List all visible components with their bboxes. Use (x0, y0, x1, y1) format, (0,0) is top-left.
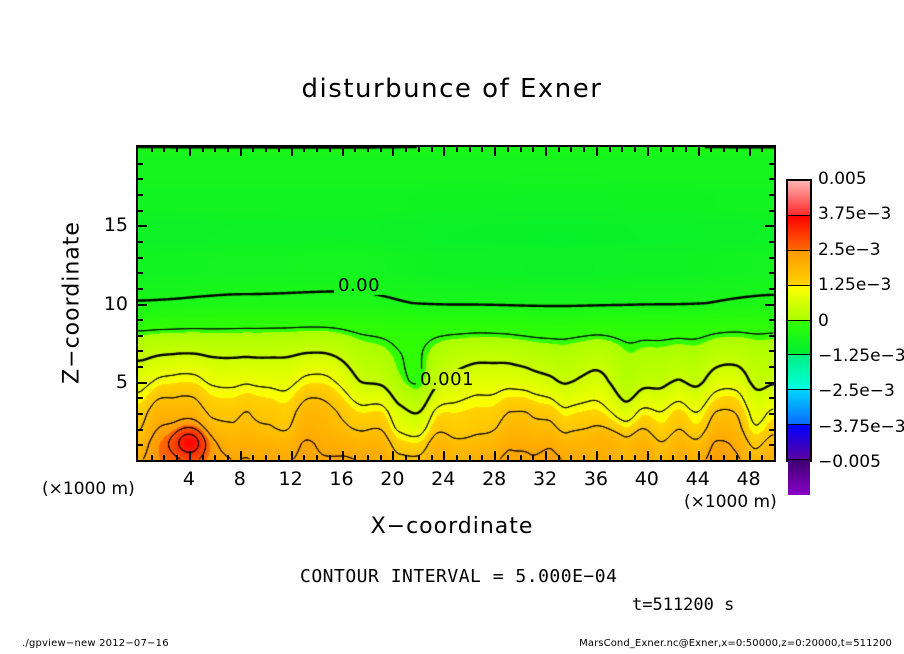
y-tick-left (138, 210, 143, 212)
x-tick-bottom (481, 455, 483, 460)
y-tick-left (138, 397, 143, 399)
y-tick-left (138, 194, 143, 196)
x-tick-top (380, 147, 382, 152)
colorbar[interactable] (786, 179, 812, 462)
y-tick-right (769, 210, 774, 212)
x-tick-bottom (252, 455, 254, 460)
x-tick-bottom (545, 451, 547, 460)
colorbar-band-pink-red (788, 181, 810, 216)
x-tick-bottom (176, 455, 178, 460)
y-tick-left (138, 257, 143, 259)
contour-value-label: 0.00 (338, 275, 380, 296)
y-tick-right (769, 413, 774, 415)
y-tick-left (138, 444, 143, 446)
y-tick-right (769, 272, 774, 274)
contour-value-label: 0.001 (420, 369, 474, 390)
colorbar-tick-label: 2.5e−3 (818, 240, 881, 260)
x-tick-bottom (570, 455, 572, 460)
x-tick-top (660, 147, 662, 152)
colorbar-tick-label: −3.75e−3 (818, 417, 904, 437)
x-tick-top (392, 147, 394, 156)
y-tick-left (138, 272, 143, 274)
x-tick-bottom (672, 455, 674, 460)
colorbar-band-red-orange (788, 216, 810, 251)
footer-datasource: MarsCond_Exner.nc@Exner,x=0:50000,z=0:20… (579, 638, 892, 649)
y-tick-right (769, 241, 774, 243)
colorbar-tick-label: 0.005 (818, 169, 867, 189)
y-tick-label: 15 (78, 214, 128, 236)
y-tick-right (769, 350, 774, 352)
x-tick-bottom (367, 455, 369, 460)
x-tick-bottom (189, 451, 191, 460)
x-tick-bottom (520, 455, 522, 460)
y-tick-right (769, 288, 774, 290)
x-tick-top (469, 147, 471, 152)
contour-interval-note: CONTOUR INTERVAL = 5.000E−04 (300, 566, 617, 587)
x-tick-bottom (316, 455, 318, 460)
colorbar-band-cyan-blue (788, 390, 810, 425)
y-tick-right (769, 319, 774, 321)
x-tick-bottom (392, 451, 394, 460)
x-tick-bottom (749, 451, 751, 460)
colorbar-tick-label: −2.5e−3 (818, 381, 895, 401)
y-tick-right (769, 397, 774, 399)
x-tick-top (481, 147, 483, 152)
x-unit-label-right: (×1000 m) (684, 492, 777, 512)
x-tick-top (736, 147, 738, 152)
footer-command: ./gpview−new 2012−07−16 (22, 638, 169, 649)
x-tick-bottom (558, 455, 560, 460)
y-tick-left (138, 241, 143, 243)
x-tick-top (189, 147, 191, 156)
x-tick-top (202, 147, 204, 152)
colorbar-band-blue-violet (788, 425, 810, 460)
y-axis-title: Z−coordinate (60, 203, 85, 403)
y-tick-left (138, 382, 147, 384)
x-tick-top (761, 147, 763, 152)
contour-plot-area[interactable] (136, 145, 776, 462)
x-tick-top (545, 147, 547, 156)
x-tick-bottom (418, 455, 420, 460)
x-tick-top (431, 147, 433, 152)
x-tick-top (342, 147, 344, 156)
y-tick-right (769, 366, 774, 368)
x-tick-top (749, 147, 751, 156)
x-tick-top (303, 147, 305, 152)
colorbar-tick-label: −1.25e−3 (818, 346, 904, 366)
x-tick-bottom (151, 455, 153, 460)
x-tick-top (176, 147, 178, 152)
x-unit-label-left: (×1000 m) (42, 479, 135, 499)
colorbar-tick-label: 0 (818, 311, 829, 331)
x-tick-top (354, 147, 356, 152)
y-tick-right (769, 163, 774, 165)
x-tick-top (507, 147, 509, 152)
colorbar-tick-label: 3.75e−3 (818, 204, 891, 224)
y-tick-left (138, 366, 143, 368)
x-tick-bottom (761, 455, 763, 460)
y-tick-left (138, 225, 147, 227)
x-tick-top (685, 147, 687, 152)
x-tick-bottom (227, 455, 229, 460)
x-tick-top (570, 147, 572, 152)
x-tick-top (240, 147, 242, 156)
x-tick-top (214, 147, 216, 152)
x-tick-top (723, 147, 725, 152)
colorbar-band-green (788, 321, 810, 356)
y-tick-left (138, 413, 143, 415)
x-tick-top (634, 147, 636, 152)
x-tick-bottom (736, 455, 738, 460)
page-title: disturbunce of Exner (0, 74, 904, 104)
x-tick-top (456, 147, 458, 152)
x-tick-bottom (507, 455, 509, 460)
x-tick-bottom (609, 455, 611, 460)
x-tick-top (710, 147, 712, 152)
x-tick-bottom (634, 455, 636, 460)
y-tick-left (138, 288, 143, 290)
y-tick-left (138, 304, 147, 306)
y-tick-right (769, 335, 774, 337)
x-tick-label: 48 (719, 468, 779, 490)
x-tick-top (278, 147, 280, 152)
y-tick-left (138, 429, 143, 431)
y-tick-right (765, 304, 774, 306)
x-tick-bottom (329, 455, 331, 460)
x-tick-top (647, 147, 649, 156)
time-note: t=511200 s (632, 595, 734, 615)
x-tick-bottom (163, 455, 165, 460)
y-tick-label: 10 (78, 293, 128, 315)
colorbar-band-orange-yellow (788, 251, 810, 286)
colorbar-band-yellow-green (788, 286, 810, 321)
x-tick-top (672, 147, 674, 152)
x-tick-top (596, 147, 598, 156)
colorbar-tick-label: −0.005 (818, 452, 881, 472)
x-tick-bottom (278, 455, 280, 460)
x-tick-bottom (214, 455, 216, 460)
x-tick-top (151, 147, 153, 152)
colorbar-tick-label: 1.25e−3 (818, 275, 891, 295)
x-tick-top (443, 147, 445, 156)
y-tick-right (769, 429, 774, 431)
x-tick-bottom (698, 451, 700, 460)
x-tick-bottom (583, 455, 585, 460)
x-tick-top (265, 147, 267, 152)
x-tick-top (163, 147, 165, 152)
x-axis-title: X−coordinate (0, 514, 904, 539)
colorbar-band-violet (788, 460, 810, 495)
y-tick-right (765, 225, 774, 227)
x-tick-bottom (647, 451, 649, 460)
x-tick-bottom (265, 455, 267, 460)
x-tick-bottom (494, 451, 496, 460)
x-tick-bottom (405, 455, 407, 460)
x-tick-top (418, 147, 420, 152)
y-tick-left (138, 319, 143, 321)
y-tick-left (138, 350, 143, 352)
x-tick-top (583, 147, 585, 152)
y-tick-right (769, 257, 774, 259)
x-tick-top (494, 147, 496, 156)
x-tick-bottom (431, 455, 433, 460)
y-tick-right (765, 382, 774, 384)
y-tick-right (769, 444, 774, 446)
x-tick-bottom (456, 455, 458, 460)
y-tick-right (769, 178, 774, 180)
y-tick-left (138, 335, 143, 337)
x-tick-top (558, 147, 560, 152)
x-tick-bottom (443, 451, 445, 460)
y-tick-left (138, 178, 143, 180)
x-tick-bottom (342, 451, 344, 460)
x-tick-top (621, 147, 623, 152)
x-tick-bottom (596, 451, 598, 460)
x-tick-top (252, 147, 254, 152)
x-tick-bottom (685, 455, 687, 460)
x-tick-top (520, 147, 522, 152)
x-tick-bottom (723, 455, 725, 460)
y-tick-left (138, 163, 143, 165)
x-tick-top (329, 147, 331, 152)
x-tick-top (405, 147, 407, 152)
x-tick-top (291, 147, 293, 156)
x-tick-bottom (303, 455, 305, 460)
x-tick-top (316, 147, 318, 152)
x-tick-bottom (621, 455, 623, 460)
y-tick-label: 5 (78, 371, 128, 393)
y-tick-right (769, 194, 774, 196)
x-tick-bottom (354, 455, 356, 460)
x-tick-bottom (532, 455, 534, 460)
x-tick-bottom (240, 451, 242, 460)
x-tick-top (367, 147, 369, 152)
x-tick-top (609, 147, 611, 152)
x-tick-bottom (710, 455, 712, 460)
x-tick-bottom (202, 455, 204, 460)
colorbar-band-green-cyan (788, 355, 810, 390)
x-tick-bottom (291, 451, 293, 460)
x-tick-bottom (660, 455, 662, 460)
x-tick-top (227, 147, 229, 152)
contour-canvas (138, 147, 774, 460)
x-tick-bottom (469, 455, 471, 460)
x-tick-top (532, 147, 534, 152)
x-tick-bottom (380, 455, 382, 460)
x-tick-top (698, 147, 700, 156)
